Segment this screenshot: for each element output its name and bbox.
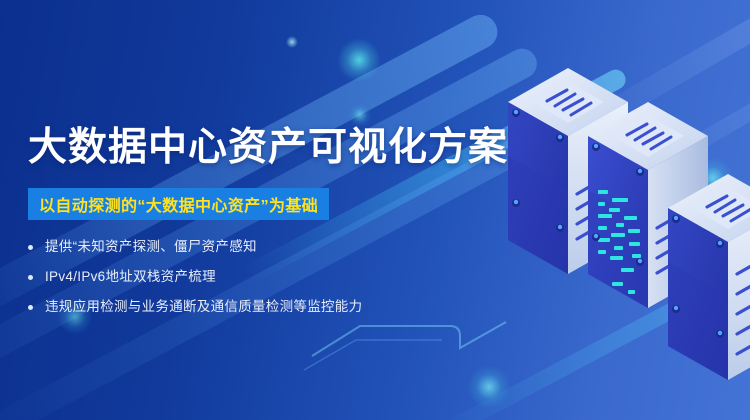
server-rack-right — [668, 174, 750, 380]
text-content: 大数据中心资产可视化方案 以自动探测的“大数据中心资产”为基础 提供“未知资产探… — [0, 0, 450, 420]
server-illustration — [436, 56, 750, 406]
banner-root: 大数据中心资产可视化方案 以自动探测的“大数据中心资产”为基础 提供“未知资产探… — [0, 0, 750, 420]
subtitle-bar: 以自动探测的“大数据中心资产”为基础 — [28, 188, 329, 220]
list-item-label: 违规应用检测与业务通断及通信质量检测等监控能力 — [45, 298, 362, 316]
list-item: 提供“未知资产探测、僵尸资产感知 — [28, 238, 438, 256]
list-item: 违规应用检测与业务通断及通信质量检测等监控能力 — [28, 298, 438, 316]
list-item-label: 提供“未知资产探测、僵尸资产感知 — [45, 238, 257, 256]
bullet-dot-icon — [28, 275, 33, 280]
feature-list: 提供“未知资产探测、僵尸资产感知 IPv4/IPv6地址双栈资产梳理 违规应用检… — [28, 238, 438, 328]
bullet-dot-icon — [28, 245, 33, 250]
list-item-label: IPv4/IPv6地址双栈资产梳理 — [45, 268, 216, 286]
list-item: IPv4/IPv6地址双栈资产梳理 — [28, 268, 438, 286]
page-title: 大数据中心资产可视化方案 — [28, 125, 508, 171]
bullet-dot-icon — [28, 305, 33, 310]
subtitle-bar-label: 以自动探测的“大数据中心资产”为基础 — [39, 192, 318, 216]
